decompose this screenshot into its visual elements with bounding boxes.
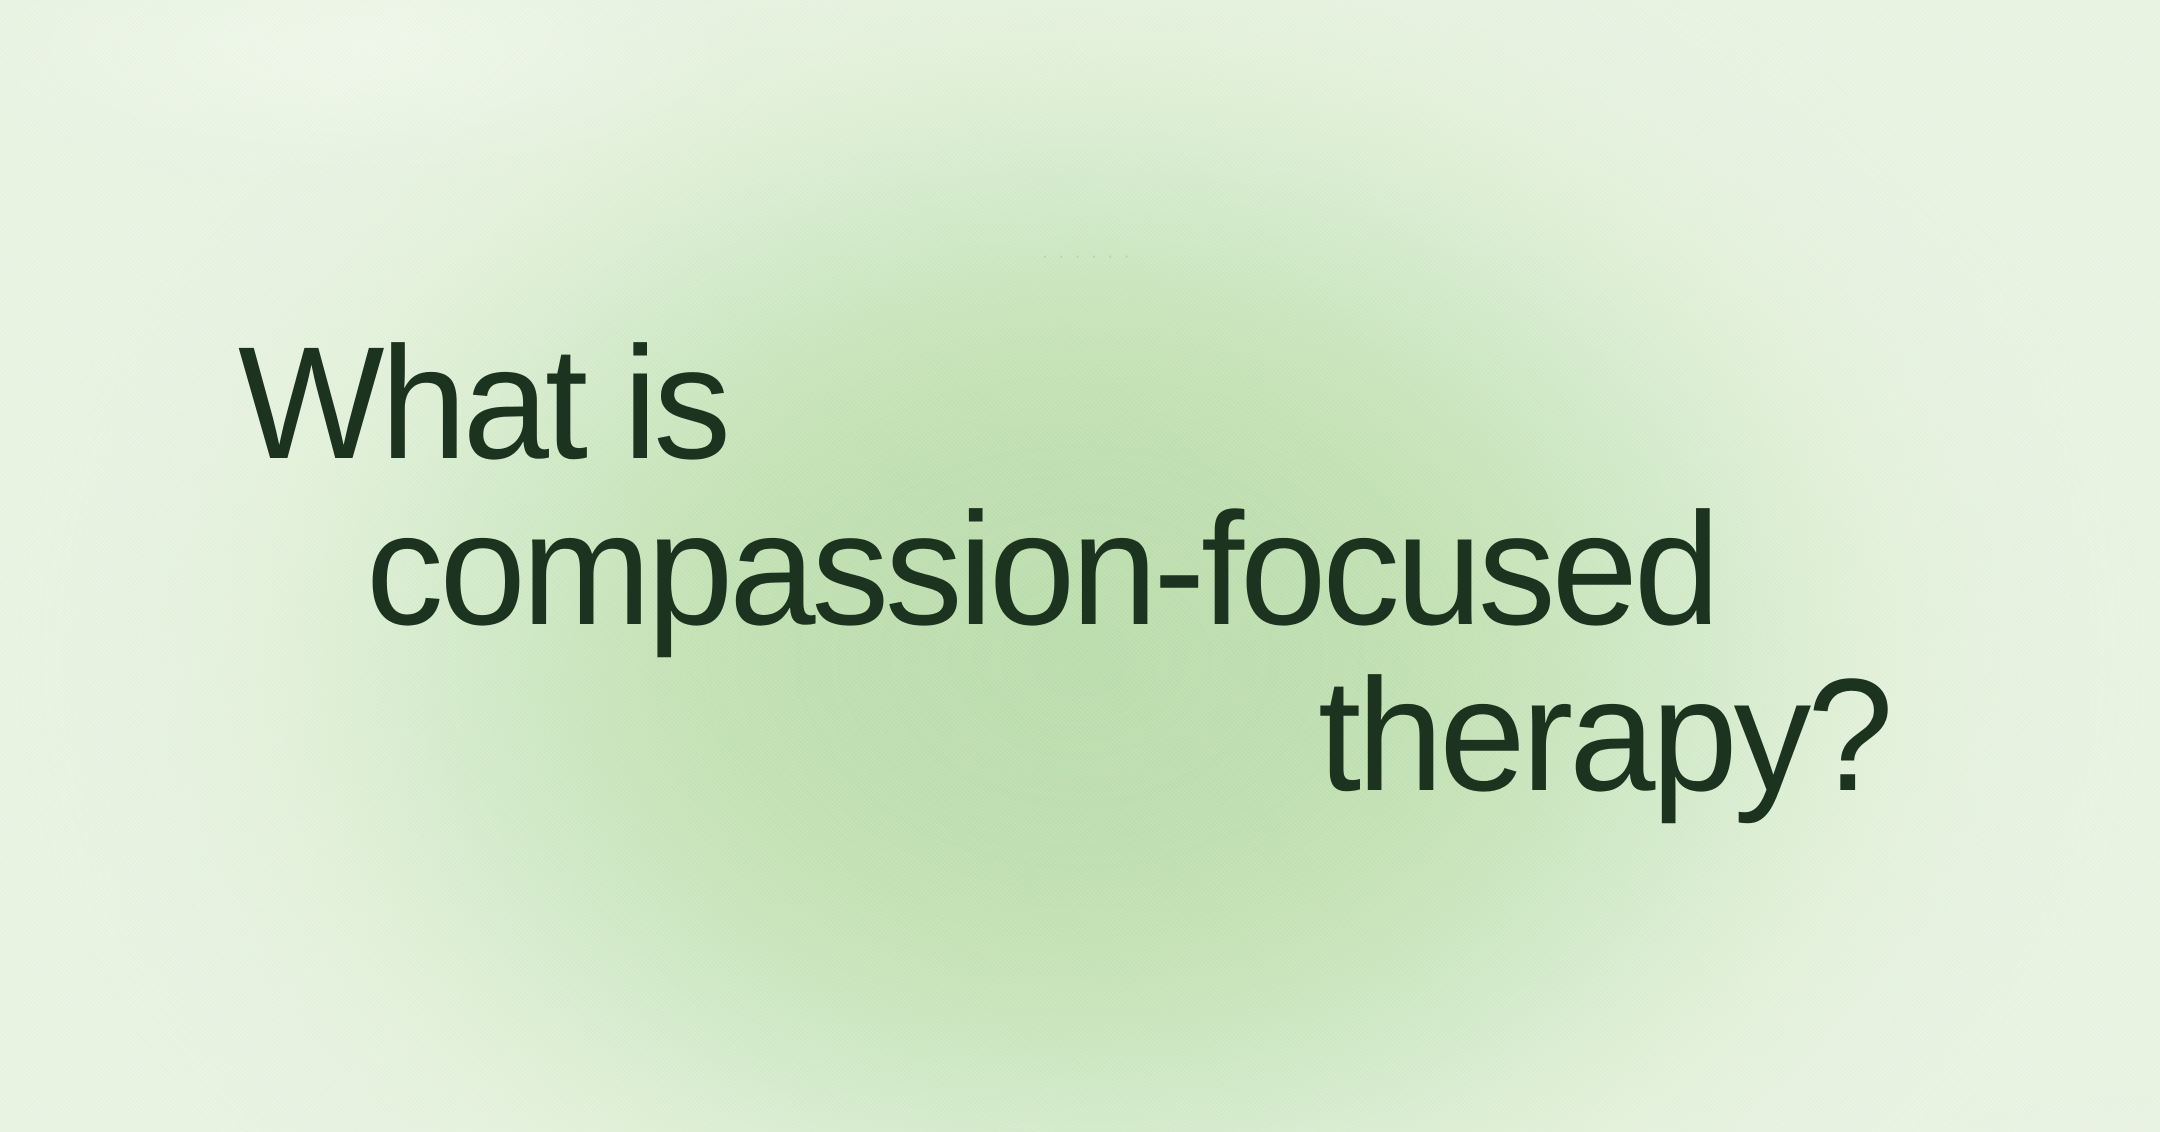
page-title: What is compassion-focused therapy? [0, 0, 2160, 1132]
hero-card: · · · · · · What is compassion-focused t… [0, 0, 2160, 1132]
headline-line-3: therapy? [1318, 652, 1889, 818]
headline-line-2: compassion-focused [366, 486, 1716, 652]
headline-line-1: What is [238, 320, 727, 486]
